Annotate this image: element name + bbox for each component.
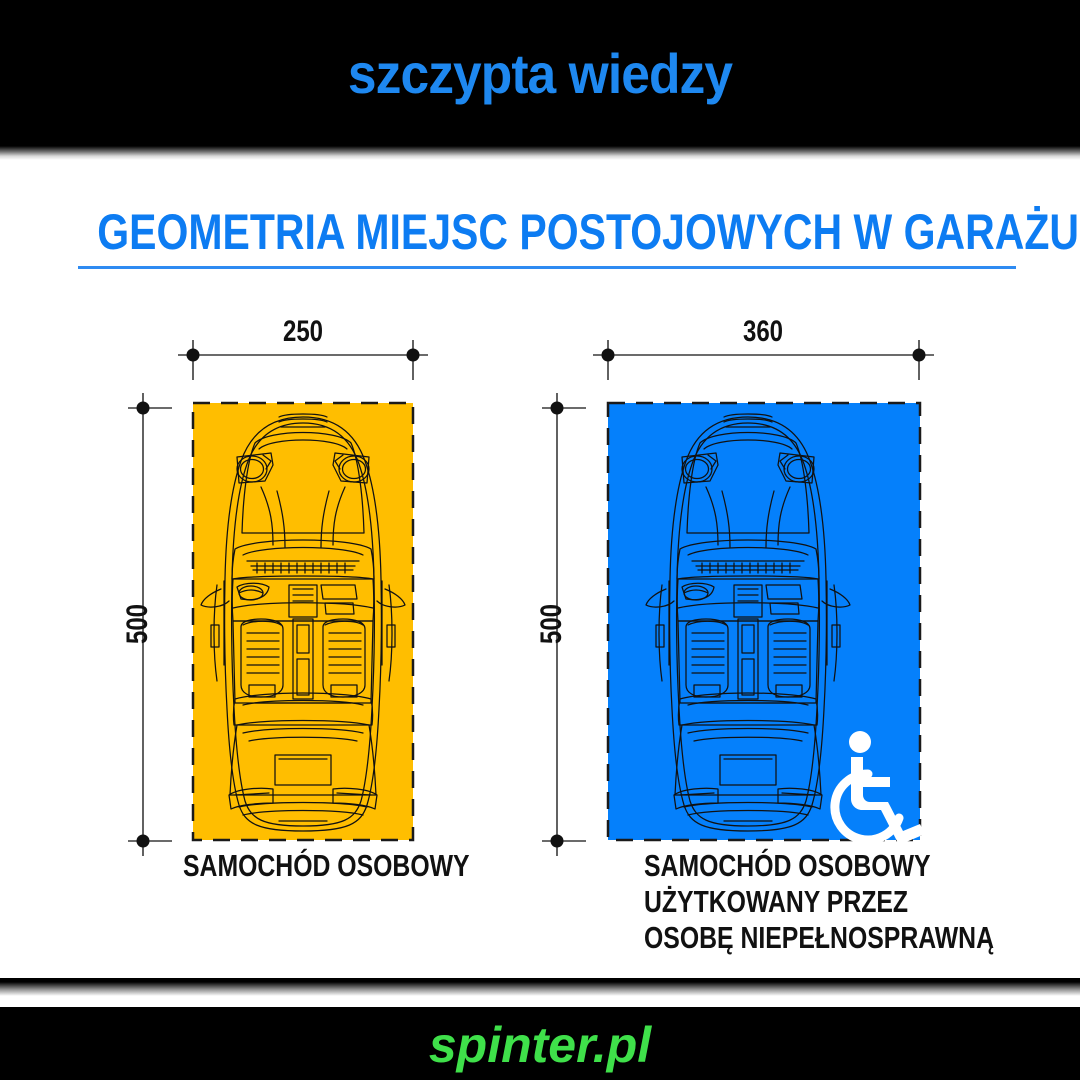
dim-dot [137, 835, 150, 848]
caption-accessible-line-2: UŻYTKOWANY PRZEZ [644, 884, 884, 920]
footer-gradient-divider [0, 978, 1080, 996]
dim-label-depth-standard: 500 [122, 588, 154, 660]
dim-dot [551, 402, 564, 415]
dim-dot [407, 349, 420, 362]
standard-bay-group [193, 403, 413, 840]
caption-standard-bay: SAMOCHÓD OSOBOWY [183, 848, 423, 884]
dim-dot [602, 349, 615, 362]
footer-logo[interactable]: spinter.pl [0, 1018, 1080, 1072]
dim-dot [187, 349, 200, 362]
parking-geometry-drawing [0, 0, 1080, 1080]
infographic-page: szczypta wiedzy GEOMETRIA MIEJSC POSTOJO… [0, 0, 1080, 1080]
dim-dot [137, 402, 150, 415]
dim-dot [551, 835, 564, 848]
caption-accessible-line-3: OSOBĘ NIEPEŁNOSPRAWNĄ [644, 920, 884, 956]
dim-label-width-accessible: 360 [727, 316, 799, 348]
dim-label-width-standard: 250 [267, 316, 339, 348]
accessible-bay-group [608, 403, 925, 845]
dim-label-depth-accessible: 500 [536, 588, 568, 660]
dim-dot [913, 349, 926, 362]
caption-accessible-line-1: SAMOCHÓD OSOBOWY [644, 848, 884, 884]
